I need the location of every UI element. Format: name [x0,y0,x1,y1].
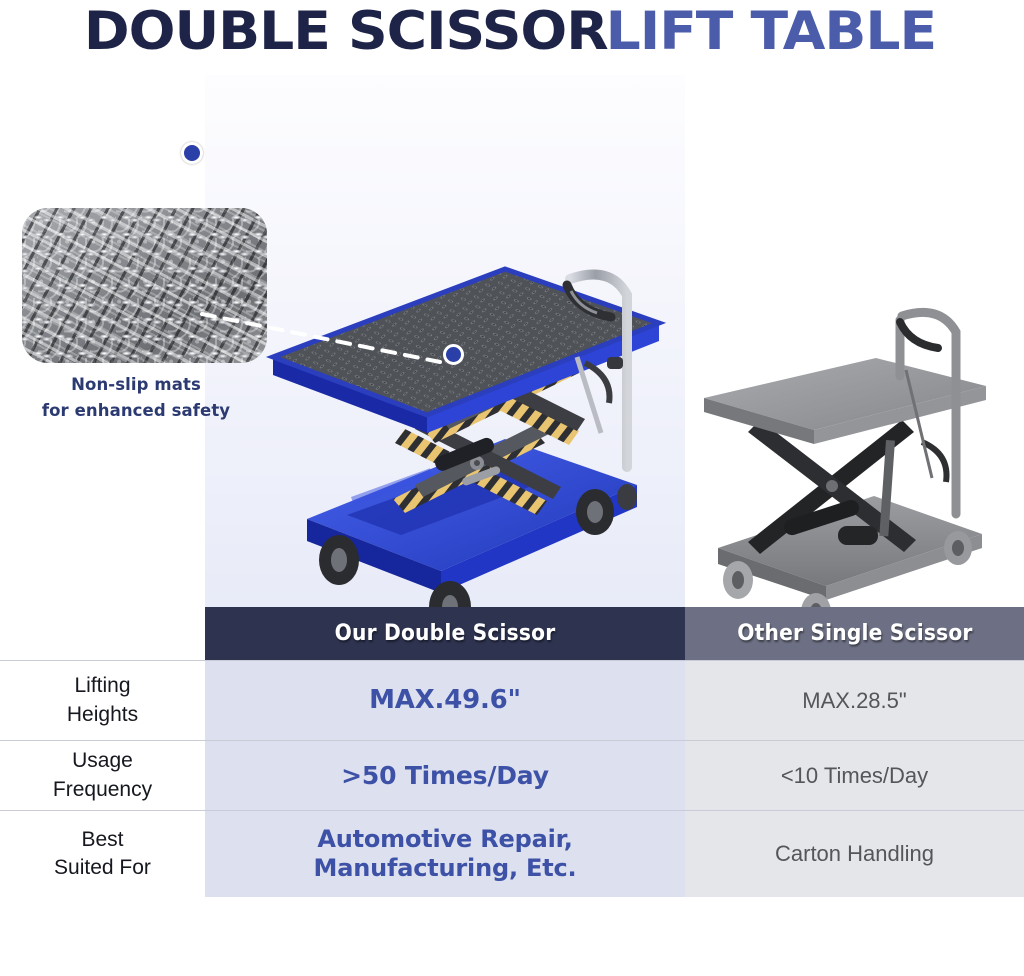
header-cell-other: Other Single Scissor [685,607,1024,660]
cell-ours-lifting-heights: MAX.49.6" [205,661,685,740]
cell-ours-usage-frequency: >50 Times/Day [205,741,685,810]
cell-other-best-suited-for: Carton Handling [685,811,1024,897]
platform-deck [273,269,659,433]
platform-blue-dot-marker-icon [443,344,464,365]
non-slip-mat-callout-text: Non-slip mats for enhanced safety [10,372,262,424]
table-row: Lifting Heights MAX.49.6" MAX.28.5" [0,660,1024,740]
caster-wheel [944,531,972,565]
row-label-best-suited-for: Best Suited For [0,811,205,897]
comparison-table: Our Double Scissor Other Single Scissor … [0,607,1024,976]
infographic-page: DOUBLE SCISSOR LIFT TABLE [0,0,1024,976]
inset-blue-dot-marker-icon [181,142,203,164]
cell-other-usage-frequency: <10 Times/Day [685,741,1024,810]
non-slip-mat-closeup-inset [22,208,267,363]
title-part-primary: DOUBLE SCISSOR [84,5,608,58]
row-label-usage-frequency: Usage Frequency [0,741,205,810]
cell-ours-best-suited-for: Automotive Repair, Manufacturing, Etc. [205,811,685,897]
row-label-line-1: Usage [53,747,152,775]
blue-double-scissor-lift-table [255,167,675,607]
table-row: Usage Frequency >50 Times/Day <10 Times/… [0,740,1024,810]
row-label-line-2: Suited For [54,854,151,882]
row-label-line-1: Best [54,826,151,854]
row-label-lifting-heights: Lifting Heights [0,661,205,740]
gray-single-scissor-lift-table [690,290,1020,607]
table-header-row: Our Double Scissor Other Single Scissor [0,607,1024,660]
caster-wheel [723,561,753,599]
hero-section: Non-slip mats for enhanced safety [0,62,1024,607]
row-label-line-2: Frequency [53,776,152,804]
header-label-other: Other Single Scissor [737,621,972,646]
label-column-divider [0,660,205,661]
header-spacer-cell [0,607,205,660]
title-part-accent: LIFT TABLE [606,5,936,58]
page-title: DOUBLE SCISSOR LIFT TABLE [0,0,1024,62]
row-label-line-2: Heights [67,701,138,729]
platform-deck [704,358,986,444]
header-cell-ours: Our Double Scissor [205,607,685,660]
callout-line-2: for enhanced safety [10,398,262,424]
table-row: Best Suited For Automotive Repair, Manuf… [0,810,1024,897]
cell-other-lifting-heights: MAX.28.5" [685,661,1024,740]
cell-ours-line-2: Manufacturing, Etc. [314,854,577,883]
caster-wheel [319,535,359,585]
callout-line-1: Non-slip mats [10,372,262,398]
header-label-ours: Our Double Scissor [335,621,556,646]
cell-ours-line-1: Automotive Repair, [314,825,577,854]
row-label-line-1: Lifting [67,672,138,700]
diamond-plate-texture [22,208,267,363]
